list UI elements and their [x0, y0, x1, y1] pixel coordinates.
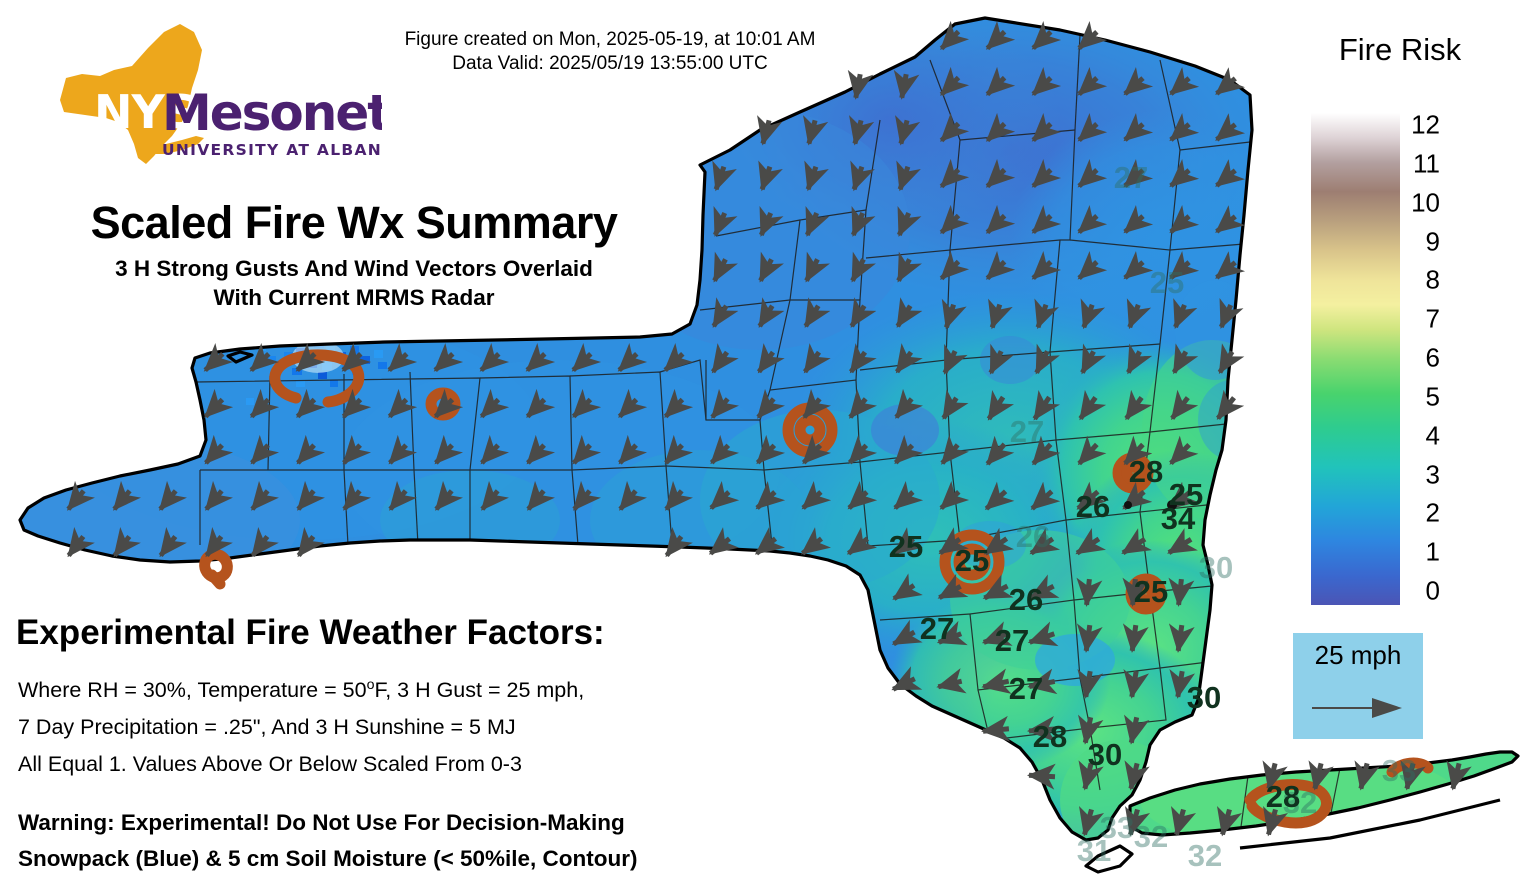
figure-title: Scaled Fire Wx Summary: [24, 197, 684, 249]
warning-line-1: Warning: Experimental! Do Not Use For De…: [18, 805, 637, 841]
wind-arrow: [1087, 579, 1090, 605]
gust-value-label: 27: [920, 611, 954, 647]
wind-scale-legend: 25 mph: [1293, 633, 1423, 739]
figure-canvas: 2725272826253426253025252627272728303032…: [0, 0, 1536, 876]
wind-arrow: [1179, 579, 1182, 605]
gust-value-label: 25: [955, 543, 989, 579]
gust-value-label: 28: [1129, 454, 1163, 490]
factors-line-3: All Equal 1. Values Above Or Below Scale…: [18, 746, 584, 783]
wind-arrow: [1178, 625, 1182, 651]
wind-scale-label: 25 mph: [1293, 640, 1423, 671]
colorbar-tick: 11: [1413, 148, 1440, 179]
gust-value-label: 25: [889, 529, 923, 565]
colorbar-tick: 7: [1426, 304, 1440, 335]
gust-value-label: 27: [1009, 671, 1043, 707]
valid-timestamp: Data Valid: 2025/05/19 13:55:00 UTC: [350, 52, 870, 76]
gust-value-label: 32: [1188, 838, 1222, 874]
factors-line-1a: Where RH = 30%, Temperature = 50: [18, 678, 367, 702]
wind-arrow: [1029, 775, 1055, 776]
gust-value-label: 27: [995, 623, 1029, 659]
wind-arrow: [983, 729, 1009, 731]
wind-arrow: [1086, 625, 1090, 651]
factors-body: Where RH = 30%, Temperature = 50oF, 3 H …: [18, 672, 584, 784]
timestamp-block: Figure created on Mon, 2025-05-19, at 10…: [350, 28, 870, 76]
gust-value-label: 26: [1076, 489, 1110, 525]
colorbar-tick: 4: [1426, 420, 1440, 451]
gust-value-label: 30: [1199, 550, 1233, 586]
svg-text:Mesonet: Mesonet: [162, 84, 382, 142]
gust-value-label: 28: [1033, 719, 1067, 755]
warning-block: Warning: Experimental! Do Not Use For De…: [18, 805, 637, 878]
nys-mesonet-logo: NYS Mesonet UNIVERSITY AT ALBANY: [22, 18, 382, 168]
gust-value-label: 25: [1150, 265, 1184, 301]
gust-value-label: 28: [1266, 779, 1300, 815]
gust-value-label: 27: [1010, 414, 1044, 450]
gust-value-label: 26: [1016, 519, 1050, 555]
arrow-right-icon: [1310, 691, 1406, 725]
created-timestamp: Figure created on Mon, 2025-05-19, at 10…: [350, 28, 870, 52]
colorbar-tick: 8: [1426, 265, 1440, 296]
colorbar-tick: 12: [1411, 110, 1440, 141]
gust-value-label: 34: [1161, 501, 1195, 537]
gust-value-label: 30: [1088, 737, 1122, 773]
colorbar-gradient: [1311, 113, 1400, 605]
factors-line-2: 7 Day Precipitation = .25", And 3 H Suns…: [18, 709, 584, 746]
wind-arrow: [1132, 625, 1136, 651]
gust-value-label: 31: [1077, 833, 1111, 869]
gust-value-label: 25: [1134, 574, 1168, 610]
gust-value-label: 27: [1114, 160, 1148, 196]
warning-line-2: Snowpack (Blue) & 5 cm Soil Moisture (< …: [18, 841, 637, 877]
gust-value-label: 30: [1187, 680, 1221, 716]
subtitle-line-1: 3 H Strong Gusts And Wind Vectors Overla…: [24, 255, 684, 284]
colorbar-tick-labels: 1211109876543210: [1412, 113, 1472, 605]
figure-subtitle: 3 H Strong Gusts And Wind Vectors Overla…: [24, 255, 684, 312]
colorbar-tick: 9: [1426, 226, 1440, 257]
factors-line-1: Where RH = 30%, Temperature = 50oF, 3 H …: [18, 672, 584, 709]
colorbar-tick: 10: [1411, 187, 1440, 218]
colorbar-tick: 5: [1426, 381, 1440, 412]
subtitle-line-2: With Current MRMS Radar: [24, 284, 684, 313]
colorbar-tick: 0: [1426, 576, 1440, 607]
gust-value-label: 26: [1009, 582, 1043, 618]
colorbar-title: Fire Risk: [1300, 32, 1500, 68]
factors-heading: Experimental Fire Weather Factors:: [16, 613, 605, 653]
colorbar-tick: 1: [1426, 537, 1440, 568]
gust-value-label: 33: [1382, 753, 1416, 789]
svg-text:UNIVERSITY AT ALBANY: UNIVERSITY AT ALBANY: [162, 141, 382, 159]
colorbar-tick: 2: [1426, 498, 1440, 529]
colorbar-tick: 3: [1426, 459, 1440, 490]
colorbar-tick: 6: [1426, 343, 1440, 374]
gust-value-label: 32: [1134, 819, 1168, 855]
factors-line-1b: F, 3 H Gust = 25 mph,: [374, 678, 584, 702]
